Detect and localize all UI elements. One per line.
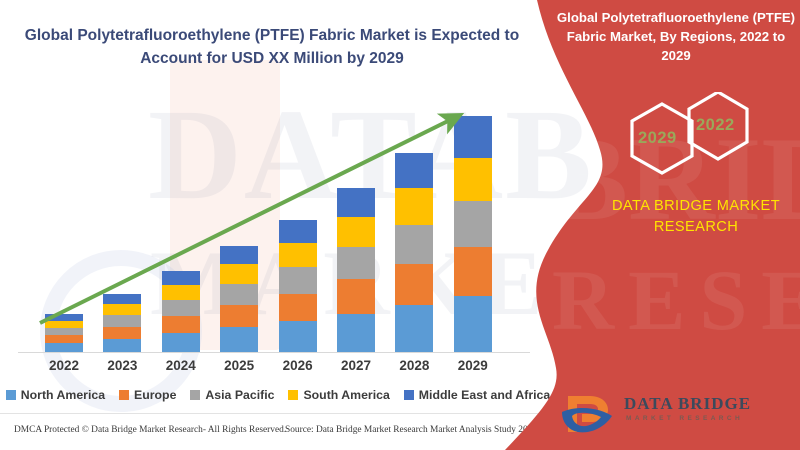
logo-tagline: MARKET RESEARCH — [626, 415, 743, 422]
panel-title: Global Polytetrafluoroethylene (PTFE) Fa… — [556, 8, 796, 65]
hexagon-2022-label: 2022 — [696, 116, 735, 135]
logo-bridge-icon — [560, 392, 622, 436]
brand-panel: BRIDGE RESEARCH Global Polytetrafluoroet… — [0, 0, 800, 450]
hexagon-group: 2029 2022 — [600, 92, 790, 200]
hexagon-2029-label: 2029 — [638, 129, 677, 148]
panel-brand-text: DATA BRIDGE MARKET RESEARCH — [596, 196, 796, 238]
logo-wordmark: DATA BRIDGE — [624, 394, 751, 414]
infographic-root: DATABRIDGE MARKET RESEARCH Global Polyte… — [0, 0, 800, 450]
data-bridge-logo: DATA BRIDGE MARKET RESEARCH — [560, 392, 790, 438]
panel-watermark-2: RESEARCH — [552, 250, 800, 350]
